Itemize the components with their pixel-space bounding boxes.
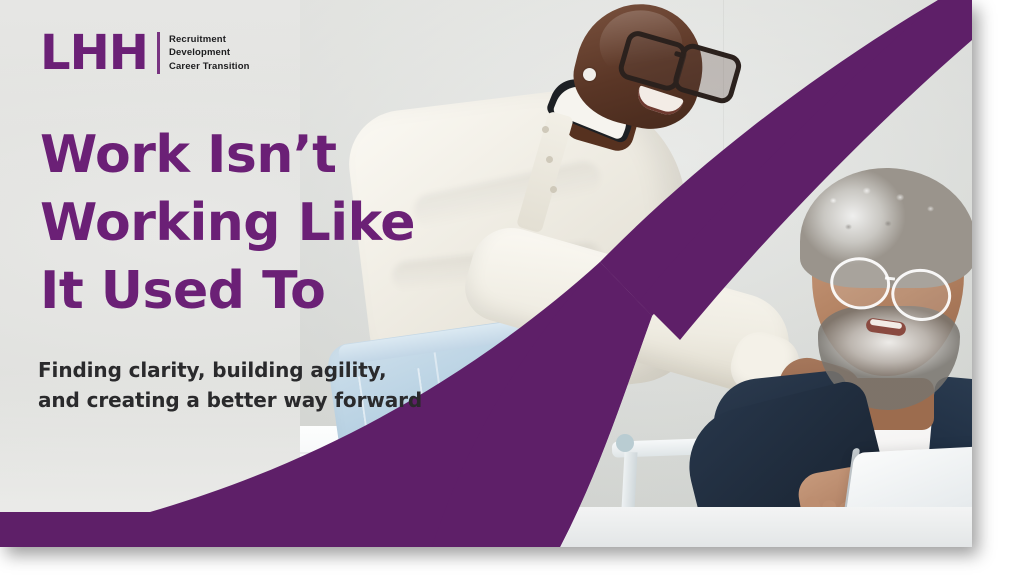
lhh-wordmark: LHH (40, 29, 148, 77)
subhead-line-1: Finding clarity, building agility, (38, 355, 438, 385)
tagline-line-2: Development (169, 46, 250, 60)
subhead-line-2: and creating a better way forward (38, 385, 438, 415)
lhh-logo: LHH Recruitment Development Career Trans… (40, 29, 250, 77)
slide-headline: Work Isn’t Working Like It Used To (40, 121, 470, 325)
chair-slat (300, 482, 500, 484)
presentation-slide: LHH Recruitment Development Career Trans… (0, 0, 972, 547)
headline-line-1: Work Isn’t (40, 121, 470, 189)
headline-line-2: Working Like (40, 189, 470, 257)
woman-earring (583, 68, 596, 81)
tagline-line-3: Career Transition (169, 60, 250, 74)
headline-line-3: It Used To (40, 257, 470, 325)
logo-divider (157, 32, 160, 74)
slide-subheadline: Finding clarity, building agility, and c… (38, 355, 438, 415)
tagline-line-1: Recruitment (169, 33, 250, 47)
man-hair-texture (812, 176, 964, 258)
desk-surface (300, 507, 972, 547)
second-chair-knob (616, 434, 634, 452)
lhh-tagline: Recruitment Development Career Transitio… (169, 33, 250, 74)
